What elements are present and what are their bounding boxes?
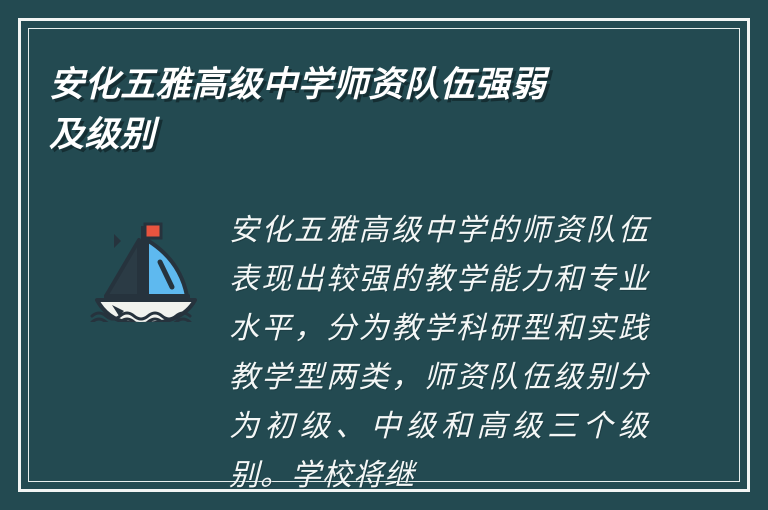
page-title: 安化五雅高级中学师资队伍强弱 及级别 <box>49 60 689 160</box>
body-paragraph: 安化五雅高级中学的师资队伍表现出较强的教学能力和专业水平，分为教学科研型和实践教… <box>229 206 649 500</box>
poster-canvas: 安化五雅高级中学师资队伍强弱 及级别 安化五雅高级中学的师资队伍表 <box>0 0 768 510</box>
sailboat-icon <box>88 212 204 322</box>
